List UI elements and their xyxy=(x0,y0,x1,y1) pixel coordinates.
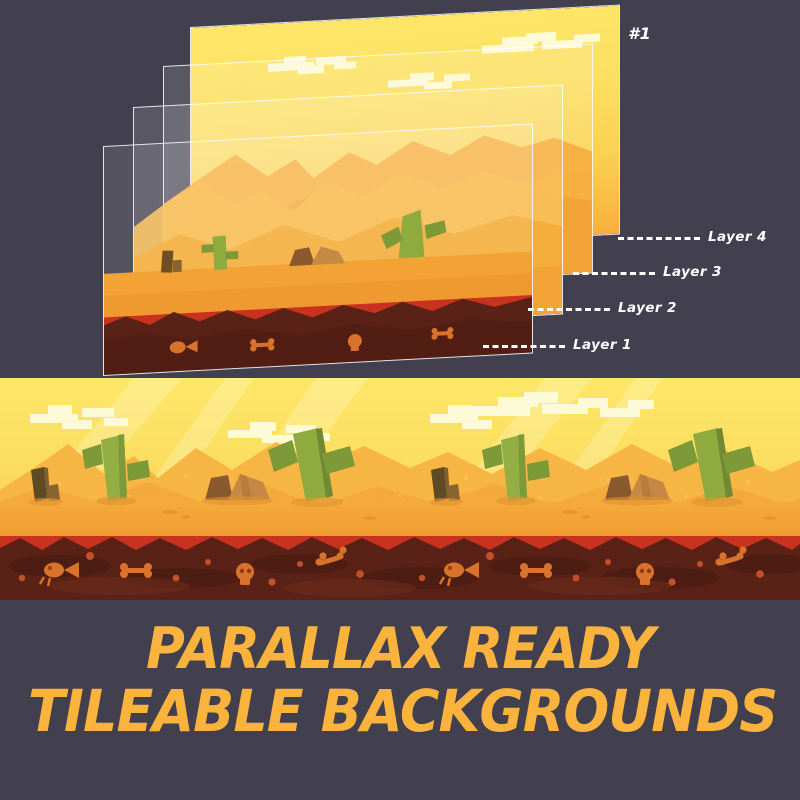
layer-stack-diagram: #1 Layer 4 Layer 3 Layer 2 Layer 1 xyxy=(0,0,800,372)
label-layer-1: Layer 1 xyxy=(573,337,632,353)
wood-stump-icon xyxy=(161,250,182,274)
leader-line-layer-2 xyxy=(528,308,610,311)
label-layer-4: Layer 4 xyxy=(708,229,767,245)
poster-title: PARALLAX READY TILEABLE BACKGROUNDS xyxy=(0,618,800,742)
poster-canvas: #1 Layer 4 Layer 3 Layer 2 Layer 1 xyxy=(0,0,800,800)
tileable-background-banner xyxy=(0,378,800,600)
title-line-1: PARALLAX READY xyxy=(28,618,772,680)
cactus-small-icon xyxy=(202,235,239,271)
layer-panel-1[interactable] xyxy=(103,123,533,376)
sample-number-label: #1 xyxy=(628,24,651,43)
leader-line-layer-1 xyxy=(483,345,565,348)
leader-line-layer-3 xyxy=(573,272,655,275)
desert-scene-svg xyxy=(0,378,800,600)
title-line-2: TILEABLE BACKGROUNDS xyxy=(28,680,772,742)
foreground-scene xyxy=(104,125,532,375)
sand-ground xyxy=(0,502,800,540)
label-layer-3: Layer 3 xyxy=(663,264,722,280)
cactus-large-icon xyxy=(381,208,447,259)
layer-1-artwork xyxy=(104,125,532,375)
label-layer-2: Layer 2 xyxy=(618,300,677,316)
leader-line-layer-4 xyxy=(618,237,700,240)
rock-pair-icon xyxy=(289,245,345,266)
